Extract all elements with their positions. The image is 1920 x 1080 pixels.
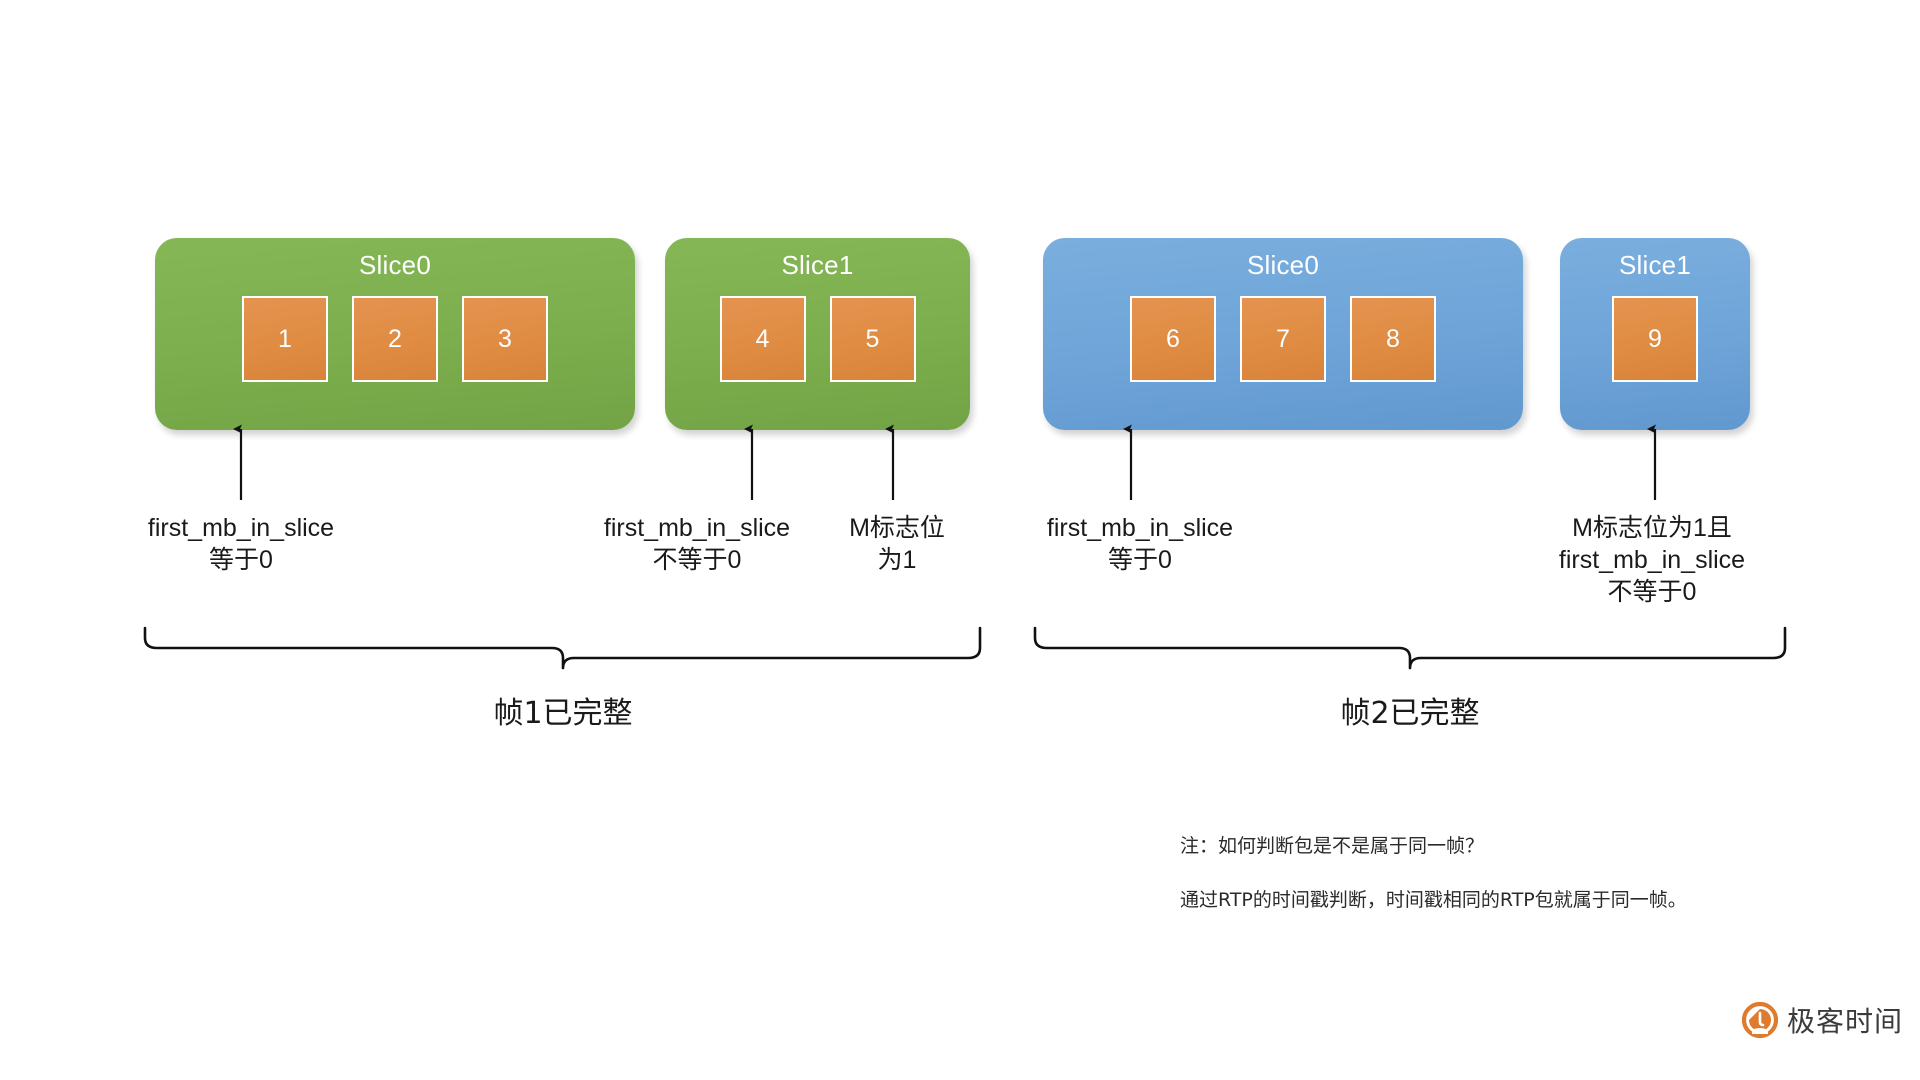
note-question: 注：如何判断包是不是属于同一帧？ bbox=[1180, 831, 1484, 858]
frame-2-brace bbox=[1030, 626, 1790, 672]
annotation-line: M标志位 bbox=[849, 512, 945, 544]
annotation-line: 等于0 bbox=[1047, 544, 1233, 576]
frame-1-brace bbox=[140, 626, 985, 672]
diagram-canvas: Slice0 1 2 3 Slice1 4 5 Slice0 6 7 8 Sli… bbox=[0, 0, 1920, 1080]
note-answer: 通过RTP的时间戳判断，时间戳相同的RTP包就属于同一帧。 bbox=[1180, 885, 1687, 912]
annotation-line: first_mb_in_slice bbox=[1559, 544, 1745, 576]
annotation-line: M标志位为1且 bbox=[1559, 512, 1745, 544]
annotation-line: 为1 bbox=[849, 544, 945, 576]
annotation-first-mb-eq0-blue: first_mb_in_slice 等于0 bbox=[1047, 512, 1233, 576]
annotation-line: 不等于0 bbox=[604, 544, 790, 576]
geektime-logo-icon bbox=[1742, 1002, 1778, 1038]
annotation-line: 等于0 bbox=[148, 544, 334, 576]
annotation-line: first_mb_in_slice bbox=[604, 512, 790, 544]
annotation-m-flag-and-first-mb-blue: M标志位为1且 first_mb_in_slice 不等于0 bbox=[1559, 512, 1745, 608]
annotation-m-flag-green: M标志位 为1 bbox=[849, 512, 945, 576]
annotation-line: first_mb_in_slice bbox=[1047, 512, 1233, 544]
annotation-line: first_mb_in_slice bbox=[148, 512, 334, 544]
annotation-first-mb-neq0-green: first_mb_in_slice 不等于0 bbox=[604, 512, 790, 576]
geektime-logo: 极客时间 bbox=[1742, 1000, 1903, 1040]
geektime-logo-text: 极客时间 bbox=[1787, 1000, 1903, 1040]
frame-2-label: 帧2已完整 bbox=[1340, 688, 1479, 732]
annotation-first-mb-eq0-green: first_mb_in_slice 等于0 bbox=[148, 512, 334, 576]
frame-1-label: 帧1已完整 bbox=[493, 688, 632, 732]
annotation-line: 不等于0 bbox=[1559, 576, 1745, 608]
